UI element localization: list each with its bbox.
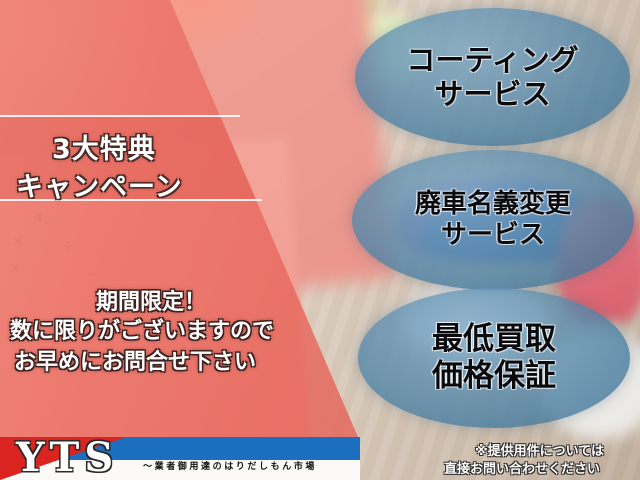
benefit-label-line2: サービス [441,220,545,251]
note-line2: 直接お問い合わせください [444,458,600,477]
promo-banner: × × ÷ α − 3大特典 キャンペーン 期間限定！ 数に限りがございますので… [0,0,640,480]
benefit-label-line1: 最低買取 [432,321,556,358]
note-line1: ※提供用件については [475,440,604,459]
benefit-label-line1: 廃車名義変更 [415,189,571,220]
promo-text-line1: 期間限定！ [96,284,206,316]
campaign-title-line1: 3大特典 [52,127,156,166]
campaign-title-line2: キャンペーン [16,165,183,204]
benefit-bubble-scrap-transfer[interactable]: 廃車名義変更 サービス [352,150,634,290]
benefit-bubble-price-guarantee[interactable]: 最低買取 価格保証 [358,288,630,428]
promo-text-line2: 数に限りがございますので [10,313,274,345]
divider-line-top [0,115,240,117]
company-logo: YTS [16,437,118,480]
company-tagline: 〜業者御用達のはりだしもん市場 [143,459,317,472]
benefit-bubble-coating[interactable]: コーティング サービス [355,8,630,146]
benefit-label-line2: サービス [434,77,550,111]
benefit-label-line1: コーティング [406,43,578,77]
benefit-label-line2: 価格保証 [432,358,556,395]
promo-text-line3: お早めにお問合せ下さい [14,344,256,376]
